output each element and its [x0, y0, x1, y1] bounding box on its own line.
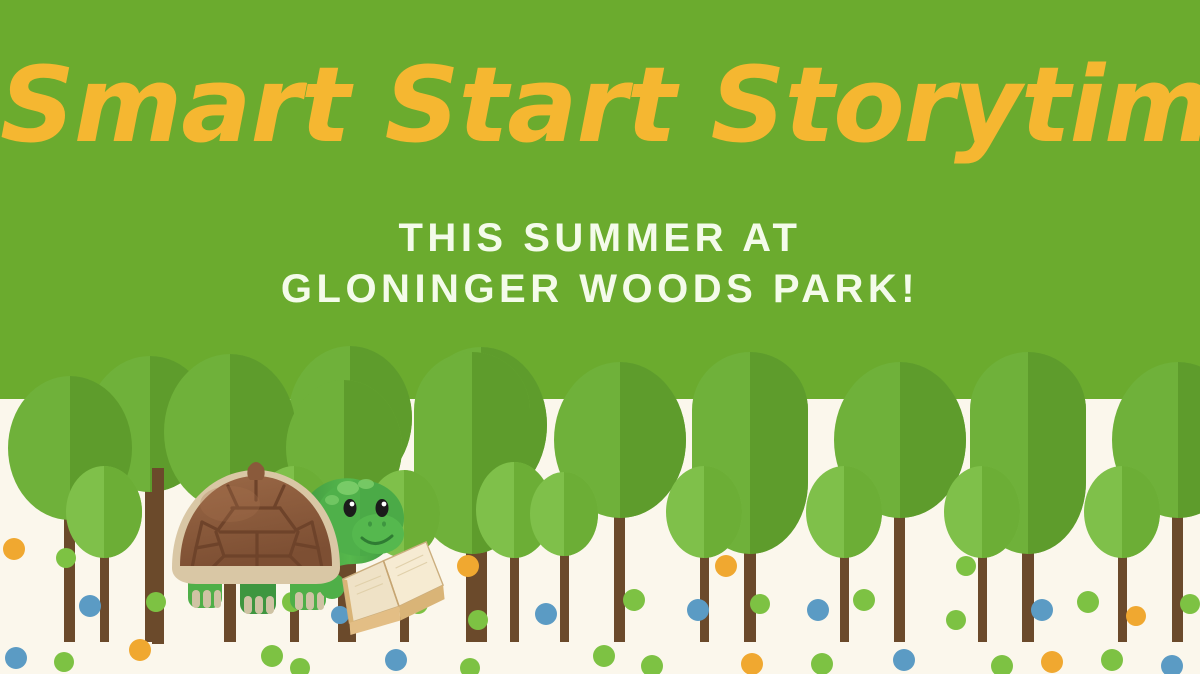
subtitle-line-1: THIS SUMMER AT [0, 213, 1200, 264]
subtitle-line-2: GLONINGER WOODS PARK! [0, 264, 1200, 315]
open-book-illustration [332, 536, 448, 638]
book-svg [332, 536, 448, 638]
turtle-shell [180, 476, 332, 570]
tree-small [66, 466, 142, 642]
page-subtitle: THIS SUMMER AT GLONINGER WOODS PARK! [0, 213, 1200, 315]
page-title: Smart Start Storytime! [0, 52, 1200, 158]
turtle-shell-nub [247, 462, 264, 480]
tree-small [1084, 466, 1160, 642]
storytime-poster: Smart Start Storytime! THIS SUMMER AT GL… [0, 0, 1200, 674]
